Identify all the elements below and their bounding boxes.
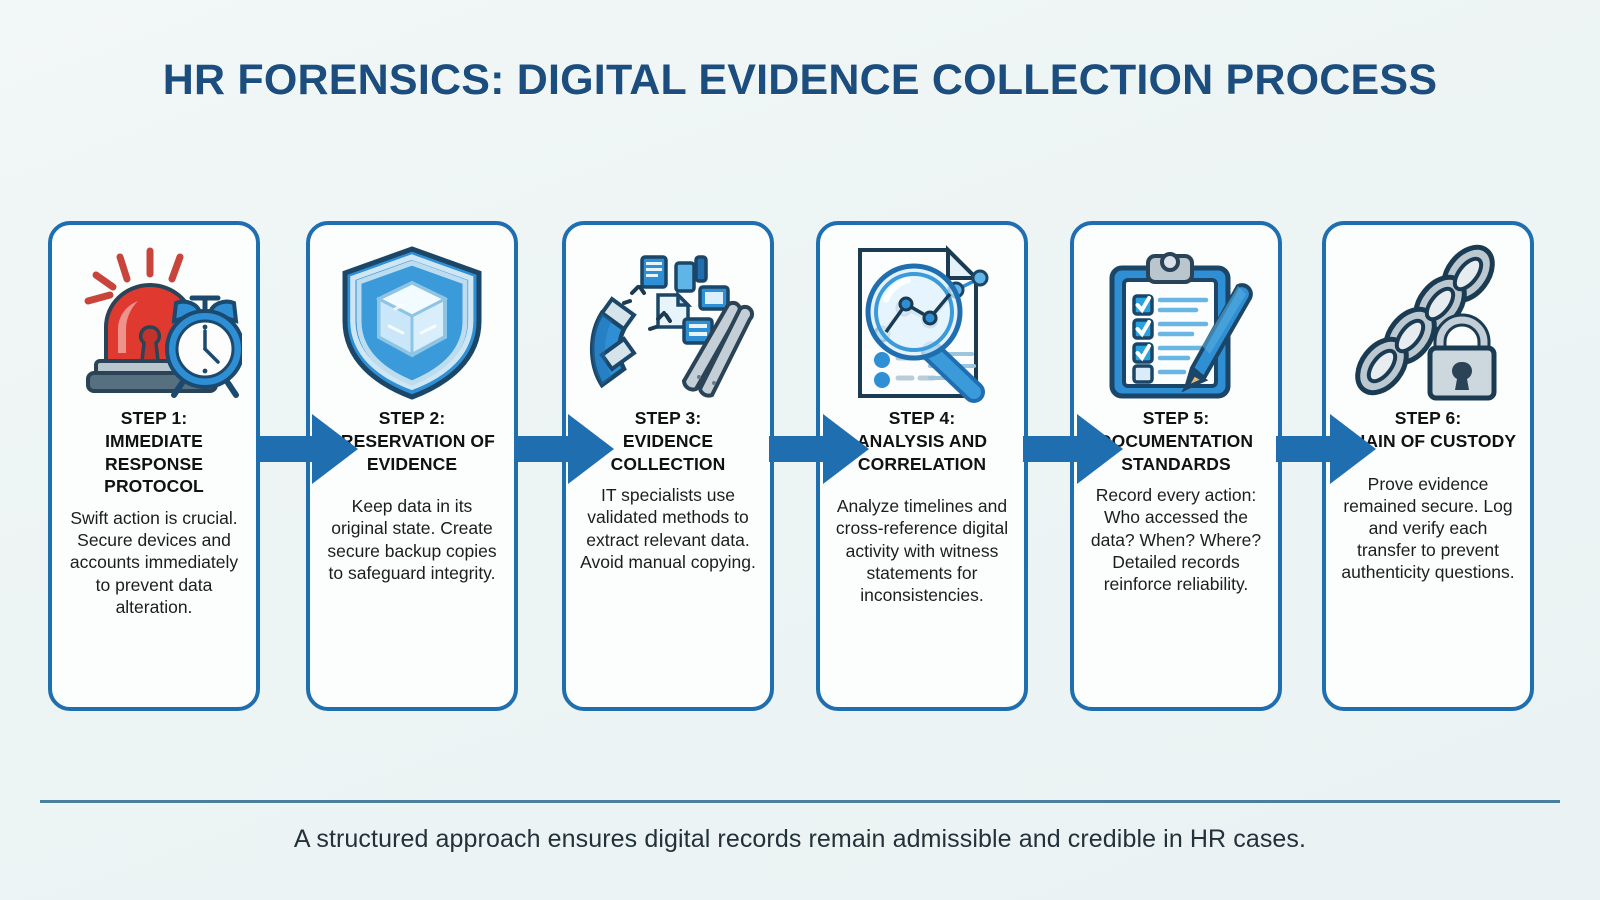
document-magnifier-chart-icon [832,239,1012,407]
step-card-1[interactable]: STEP 1: IMMEDIATE RESPONSE PROTOCOL Swif… [48,221,260,711]
footer-note: A structured approach ensures digital re… [0,825,1600,854]
arrow-step1-step2 [256,410,360,488]
magnet-files-tweezers-icon [578,239,758,407]
arrow-step2-step3 [512,410,616,488]
step-body: Swift action is crucial. Secure devices … [64,507,244,618]
arrow-step3-step4 [767,410,871,488]
step-body: Prove evidence remained secure. Log and … [1338,473,1518,584]
step-body: IT specialists use validated methods to … [578,484,758,573]
page-title: HR FORENSICS: DIGITAL EVIDENCE COLLECTIO… [0,56,1600,105]
chain-padlock-icon [1338,239,1518,407]
arrow-step4-step5 [1021,410,1125,488]
process-steps-row: STEP 1: IMMEDIATE RESPONSE PROTOCOL Swif… [48,221,1552,711]
step-body: Analyze timelines and cross-reference di… [832,495,1012,606]
step-heading: STEP 1: IMMEDIATE RESPONSE PROTOCOL [64,407,244,498]
footer-divider [40,800,1560,803]
shield-ice-cube-icon [322,239,502,407]
step-body: Keep data in its original state. Create … [322,495,502,584]
siren-alarm-clock-icon [64,239,244,407]
arrow-step5-step6 [1274,410,1378,488]
clipboard-checklist-pen-icon [1086,239,1266,407]
step-body: Record every action: Who accessed the da… [1086,484,1266,595]
